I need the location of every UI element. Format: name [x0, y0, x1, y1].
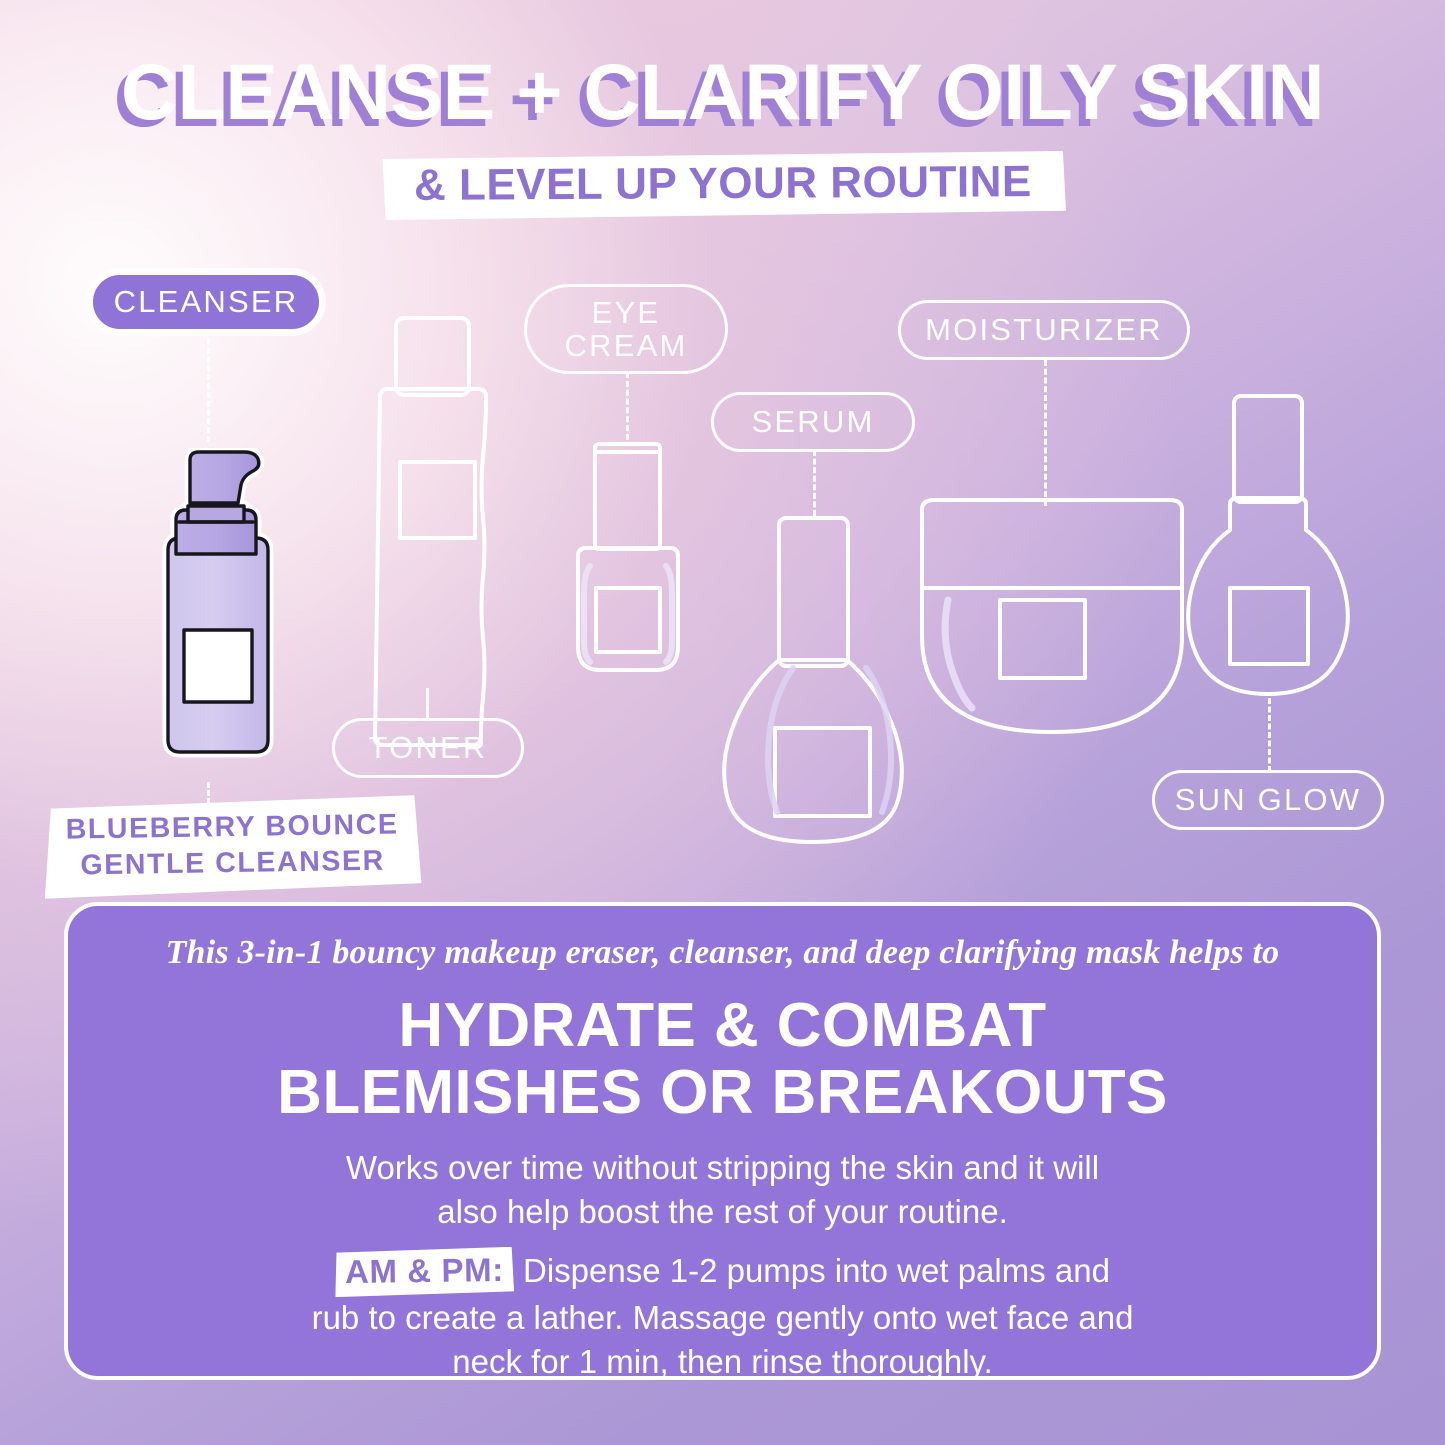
routine-diagram: CLEANSER TONER EYE CREAM SERUM MOISTURIZ… [0, 0, 1445, 900]
serum-outline [724, 518, 902, 842]
moisturizer-outline [922, 500, 1182, 732]
pill-label-cleanser: CLEANSER [114, 285, 299, 318]
sidebar-item-serum[interactable]: SERUM [711, 392, 915, 452]
pill-label-toner: TONER [369, 731, 488, 764]
am-pm-badge: AM & PM: [335, 1247, 514, 1297]
leader-line-serum [813, 450, 816, 516]
leader-line-toner [426, 688, 429, 721]
product-name-banner: BLUEBERRY BOUNCE GENTLE CLEANSER [43, 795, 421, 899]
pill-label-sun-glow: SUN GLOW [1175, 783, 1361, 816]
leader-line-eye-cream [626, 372, 629, 440]
pill-label-moisturizer: MOISTURIZER [925, 313, 1163, 346]
body-copy-text: Works over time without stripping the sk… [108, 1146, 1337, 1234]
sidebar-item-toner[interactable]: TONER [332, 718, 524, 778]
cleanser-bottle-illustration [152, 448, 284, 778]
info-panel: This 3-in-1 bouncy makeup eraser, cleans… [64, 902, 1381, 1380]
leader-line-sun-glow [1268, 698, 1271, 772]
product-name-text: BLUEBERRY BOUNCE GENTLE CLEANSER [65, 807, 399, 884]
headline-text: HYDRATE & COMBAT BLEMISHES OR BREAKOUTS [108, 993, 1337, 1126]
pill-label-serum: SERUM [752, 405, 875, 438]
sidebar-item-eye-cream[interactable]: EYE CREAM [524, 284, 728, 374]
tagline-text: This 3-in-1 bouncy makeup eraser, cleans… [108, 934, 1337, 971]
pill-label-eye-cream: EYE CREAM [565, 296, 688, 363]
sun-glow-outline [1188, 396, 1348, 694]
sidebar-item-cleanser[interactable]: CLEANSER [90, 272, 322, 332]
sidebar-item-sun-glow[interactable]: SUN GLOW [1152, 770, 1384, 830]
leader-line-cleanser [207, 330, 210, 442]
leader-line-moisturizer [1044, 360, 1047, 506]
toner-outline [375, 318, 486, 745]
leader-line-cleanser-bottom [207, 782, 210, 804]
sidebar-item-moisturizer[interactable]: MOISTURIZER [898, 300, 1190, 360]
usage-instructions: AM & PM: Dispense 1-2 pumps into wet pal… [108, 1248, 1337, 1384]
eye-cream-outline [578, 444, 678, 670]
